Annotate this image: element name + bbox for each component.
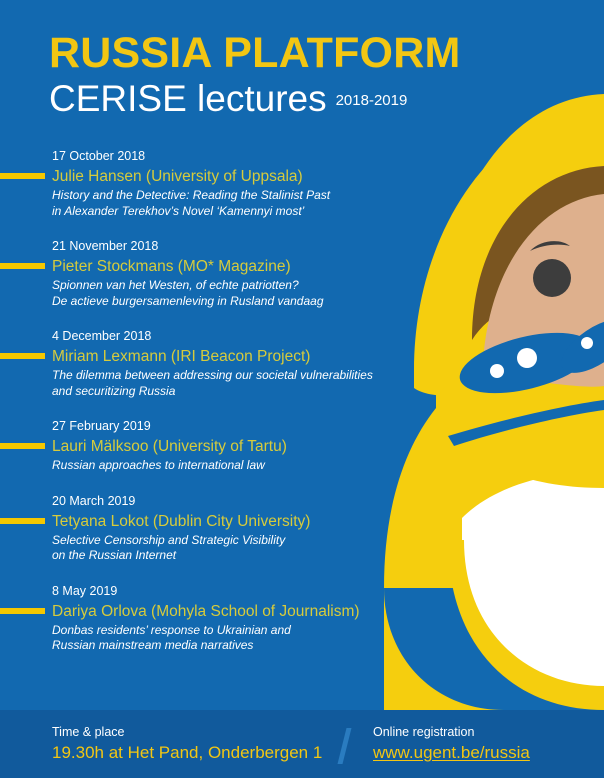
lecture-description-line: De actieve burgersamenleving in Rusland … <box>52 294 420 310</box>
lecture-speaker: Dariya Orlova (Mohyla School of Journali… <box>52 602 420 621</box>
lecture-description-line: The dilemma between addressing our socie… <box>52 368 420 384</box>
doll-headscarf <box>414 106 604 396</box>
doll-eye <box>533 259 571 297</box>
lecture-item: 17 October 2018 Julie Hansen (University… <box>0 148 420 219</box>
doll-apron <box>462 471 604 688</box>
lecture-dash-marker <box>0 263 45 269</box>
lecture-description-line: on the Russian Internet <box>52 548 420 564</box>
doll-scarf-front <box>436 376 604 488</box>
lecture-speaker: Tetyana Lokot (Dublin City University) <box>52 512 420 531</box>
page-subtitle: CERISE lectures <box>49 79 327 119</box>
lecture-dash-marker <box>0 608 45 614</box>
lecture-description-line: History and the Detective: Reading the S… <box>52 188 420 204</box>
lecture-description: The dilemma between addressing our socie… <box>52 368 420 399</box>
lecture-dash-marker <box>0 443 45 449</box>
doll-face <box>484 194 604 388</box>
subtitle-row: CERISE lectures 2018-2019 <box>49 79 469 119</box>
lecture-date: 21 November 2018 <box>52 238 420 255</box>
page-title: RUSSIA PLATFORM <box>49 30 469 76</box>
lecture-description-line: Selective Censorship and Strategic Visib… <box>52 533 420 549</box>
time-and-place-block: Time & place 19.30h at Het Pand, Onderbe… <box>52 724 322 763</box>
lecture-description: History and the Detective: Reading the S… <box>52 188 420 219</box>
registration-link[interactable]: www.ugent.be/russia <box>373 742 530 763</box>
lecture-dash-marker <box>0 353 45 359</box>
lecture-description-line: Russian approaches to international law <box>52 458 420 474</box>
lecture-speaker: Miriam Lexmann (IRI Beacon Project) <box>52 347 420 366</box>
lecture-description-line: Donbas residents’ response to Ukrainian … <box>52 623 420 639</box>
poster-footer: Time & place 19.30h at Het Pand, Onderbe… <box>0 710 604 778</box>
lecture-date: 20 March 2019 <box>52 493 420 510</box>
lecture-date: 8 May 2019 <box>52 583 420 600</box>
doll-petal-dot-3 <box>581 337 593 349</box>
lecture-item: 4 December 2018 Miriam Lexmann (IRI Beac… <box>0 328 420 399</box>
lecture-dash-marker <box>0 518 45 524</box>
lecture-description: Russian approaches to international law <box>52 458 420 474</box>
time-and-place-value: 19.30h at Het Pand, Onderbergen 1 <box>52 742 322 763</box>
footer-slash-divider <box>338 728 352 764</box>
doll-mouth <box>540 332 598 350</box>
registration-label: Online registration <box>373 724 530 740</box>
registration-block: Online registration www.ugent.be/russia <box>373 724 530 763</box>
lecture-description: Spionnen van het Westen, of echte patrio… <box>52 278 420 309</box>
lecture-speaker: Julie Hansen (University of Uppsala) <box>52 167 420 186</box>
doll-hair <box>472 166 604 340</box>
lecture-item: 27 February 2019 Lauri Mälksoo (Universi… <box>0 418 420 474</box>
lecture-item: 8 May 2019 Dariya Orlova (Mohyla School … <box>0 583 420 654</box>
lecture-dash-marker <box>0 173 45 179</box>
doll-petal-dot-2 <box>490 364 504 378</box>
lecture-item: 20 March 2019 Tetyana Lokot (Dublin City… <box>0 493 420 564</box>
lecture-list: 17 October 2018 Julie Hansen (University… <box>0 148 420 654</box>
lecture-description: Selective Censorship and Strategic Visib… <box>52 533 420 564</box>
lecture-speaker: Pieter Stockmans (MO* Magazine) <box>52 257 420 276</box>
doll-shoulder-stripe <box>448 400 604 446</box>
doll-eyebrow <box>530 241 570 251</box>
poster-header: RUSSIA PLATFORM CERISE lectures 2018-201… <box>49 30 469 119</box>
lecture-speaker: Lauri Mälksoo (University of Tartu) <box>52 437 420 456</box>
lecture-date: 27 February 2019 <box>52 418 420 435</box>
doll-apron-rim <box>448 540 604 710</box>
lecture-item: 21 November 2018 Pieter Stockmans (MO* M… <box>0 238 420 309</box>
lecture-description-line: in Alexander Terekhov’s Novel ‘Kamennyi … <box>52 204 420 220</box>
lecture-description-line: Russian mainstream media narratives <box>52 638 420 654</box>
time-and-place-label: Time & place <box>52 724 322 740</box>
academic-years-label: 2018-2019 <box>336 92 408 109</box>
poster: RUSSIA PLATFORM CERISE lectures 2018-201… <box>0 0 604 778</box>
doll-petal-small <box>553 309 604 384</box>
lecture-description: Donbas residents’ response to Ukrainian … <box>52 623 420 654</box>
lecture-date: 4 December 2018 <box>52 328 420 345</box>
doll-petal-large <box>454 321 599 404</box>
lecture-description-line: Spionnen van het Westen, of echte patrio… <box>52 278 420 294</box>
doll-petal-dot-1 <box>517 348 537 368</box>
lecture-description-line: and securitizing Russia <box>52 384 420 400</box>
lecture-date: 17 October 2018 <box>52 148 420 165</box>
